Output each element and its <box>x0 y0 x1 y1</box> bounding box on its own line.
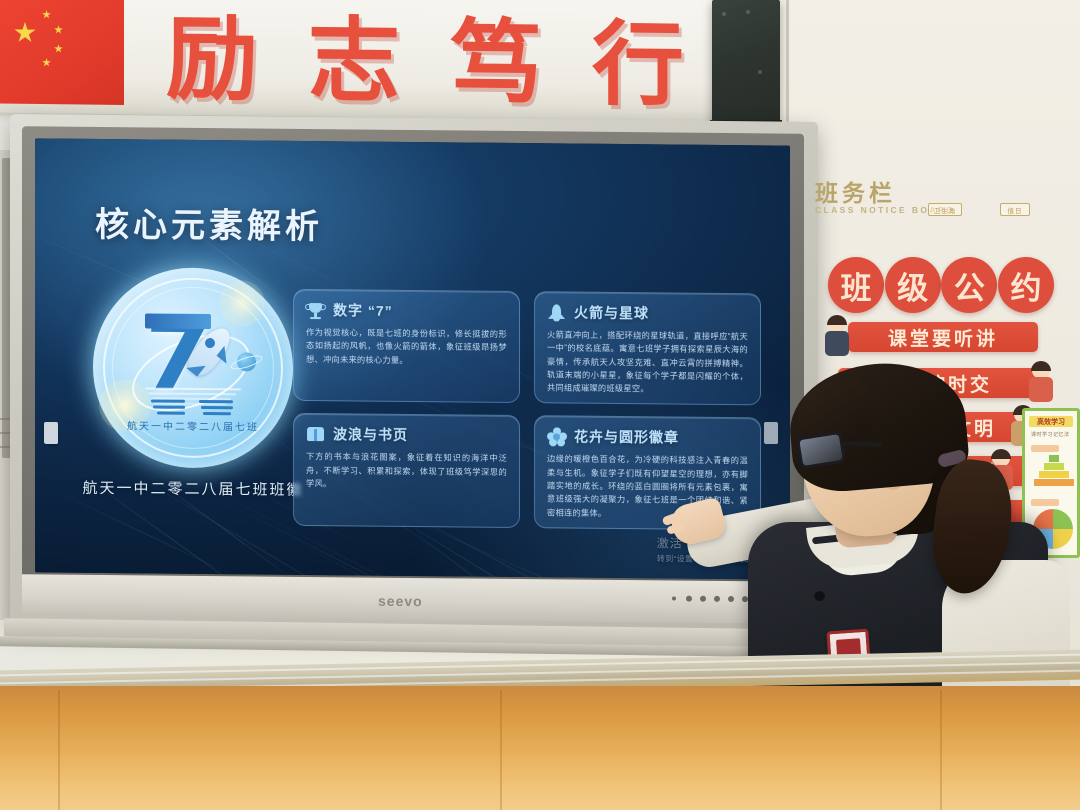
notice-chip-1: 卫生角 <box>928 203 962 216</box>
motto-banner-text: 励 志 笃 行 <box>166 0 686 112</box>
card-title: 波浪与书页 <box>333 425 408 446</box>
emblem-caption: 航天一中二零二八届七班班徽 <box>65 477 321 500</box>
panel-brand-logo: seevo <box>378 593 423 609</box>
class-pact-title: 班 级 公 约 <box>828 255 1054 315</box>
china-national-flag-icon <box>0 0 124 105</box>
card-title: 数字 “7” <box>333 300 393 321</box>
pact-char-2: 级 <box>885 257 941 313</box>
motto-banner: 励 志 笃 行 <box>0 0 736 125</box>
card-body: 作为视觉核心，既是七班的身份标识，修长挺拔的形态如扬起的风帆，也像火箭的箭体，象… <box>306 326 507 368</box>
pact-char-4: 约 <box>998 257 1054 313</box>
card-number-seven[interactable]: 数字 “7” 作为视觉核心，既是七班的身份标识，修长挺拔的形态如扬起的风帆，也像… <box>293 289 520 404</box>
card-title: 花卉与圆形徽章 <box>574 427 679 448</box>
rocket-icon <box>547 303 566 322</box>
flower-icon <box>547 427 566 446</box>
book-icon <box>306 425 325 444</box>
slide-title: 核心元素解析 <box>95 197 323 248</box>
class-emblem: 7 航天一中二零二八届七班 <box>93 267 293 469</box>
wall-speaker <box>712 0 780 128</box>
pact-char-1: 班 <box>828 257 884 313</box>
classroom-photo-scene: 励 志 笃 行 核心元素解析 <box>0 0 1080 810</box>
notice-board-title: 班务栏 <box>815 174 896 208</box>
motto-char-4: 行 <box>592 0 686 123</box>
card-title: 火箭与星球 <box>574 303 649 324</box>
motto-char-3: 笃 <box>450 0 544 122</box>
emblem-arc-text: 航天一中二零二八届七班 <box>117 417 269 458</box>
trophy-icon <box>306 300 325 319</box>
lily-flower-icon-2 <box>219 280 265 326</box>
pact-char-3: 公 <box>941 257 997 313</box>
wood-wainscot <box>0 686 1080 810</box>
student-sticker-1 <box>824 316 850 356</box>
motto-char-2: 志 <box>308 0 402 120</box>
panel-side-handle-icon[interactable] <box>44 422 58 444</box>
card-waves-pages[interactable]: 波浪与书页 下方的书本与浪花图案，象征着在知识的海洋中泛舟，不断学习、积累和探索… <box>293 413 520 528</box>
notice-chip-2: 值日 <box>1000 203 1030 216</box>
card-body: 下方的书本与浪花图案，象征着在知识的海洋中泛舟，不断学习、积累和探索，体现了班级… <box>306 450 507 492</box>
rule-banner-1: 课堂要听讲 <box>848 322 1038 352</box>
motto-char-1: 励 <box>166 0 260 118</box>
